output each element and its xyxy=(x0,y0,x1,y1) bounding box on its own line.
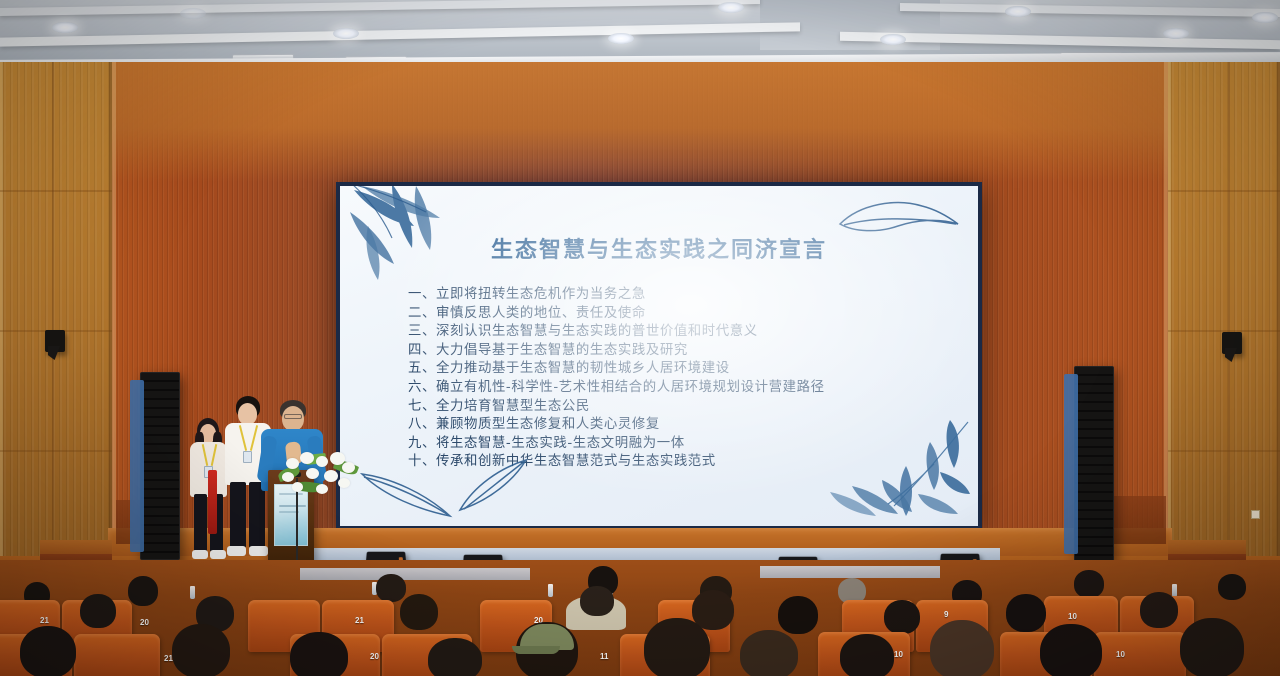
seat-number: 10 xyxy=(894,650,903,659)
audience-head xyxy=(580,586,614,616)
seat-number: 9 xyxy=(944,610,948,619)
downlight xyxy=(880,34,906,45)
downlight xyxy=(1252,12,1278,23)
audience-head xyxy=(1040,624,1102,676)
flower xyxy=(316,456,328,467)
audience-seating: 21 20 21 20 19 9 10 22 21 20 18 11 10 10 xyxy=(0,560,1280,676)
water-bottle xyxy=(548,584,553,597)
water-bottle xyxy=(190,586,195,599)
seat-number: 11 xyxy=(600,652,608,661)
downlight xyxy=(180,8,206,19)
list-item: 九、将生态智慧-生态实践-生态文明融为一体 xyxy=(408,435,952,454)
slide-title: 生态智慧与生态实践之同济宣言 xyxy=(340,232,978,264)
seat-number: 20 xyxy=(140,618,149,627)
audience-head xyxy=(778,596,818,634)
line-array-speaker-right xyxy=(1074,366,1114,562)
downlight xyxy=(608,33,634,44)
audience-head xyxy=(1006,594,1046,632)
banner-text-line xyxy=(279,505,306,507)
list-item: 十、传承和创新中华生态智慧范式与生态实践范式 xyxy=(408,453,952,472)
flower xyxy=(324,470,338,482)
flower xyxy=(292,482,303,492)
projection-screen-frame: 生态智慧与生态实践之同济宣言 一、立即将扭转生态危机作为当务之急 二、审慎反思人… xyxy=(336,182,982,530)
seat[interactable] xyxy=(1094,632,1186,676)
list-item: 二、审慎反思人类的地位、责任及使命 xyxy=(408,305,952,324)
ceiling-beam xyxy=(900,3,1280,17)
line-array-speaker-left xyxy=(140,372,180,560)
audience-head xyxy=(644,618,710,676)
downlight xyxy=(1005,6,1031,17)
red-banner-prop xyxy=(208,470,217,534)
seat-number: 10 xyxy=(1116,650,1125,659)
audience-head xyxy=(376,574,406,602)
audience-head xyxy=(128,576,158,606)
wall-seam xyxy=(1168,190,1280,192)
list-item: 七、全力培育智慧型生态公民 xyxy=(408,398,952,417)
audience-head xyxy=(428,638,482,676)
wall-seam xyxy=(1168,450,1280,452)
shoe xyxy=(192,550,208,559)
wall-panel-left xyxy=(0,62,112,572)
downlight xyxy=(333,28,359,39)
audience-head xyxy=(20,626,76,676)
flower-arrangement xyxy=(276,448,360,500)
wall-panel-right xyxy=(1168,62,1280,572)
wall-seam xyxy=(0,190,112,192)
list-item: 八、兼顾物质型生态修复和人类心灵修复 xyxy=(408,416,952,435)
audience-head xyxy=(400,594,438,630)
seat-number: 21 xyxy=(355,616,364,625)
wall-seam xyxy=(52,62,54,572)
list-item: 六、确立有机性-科学性-艺术性相结合的人居环境规划设计营建路径 xyxy=(408,379,952,398)
flower xyxy=(286,458,299,469)
seat[interactable] xyxy=(74,634,160,676)
row-table xyxy=(300,568,530,580)
flower xyxy=(342,462,355,473)
audience-head xyxy=(930,620,994,676)
audience-head xyxy=(740,630,798,676)
eyeglasses-icon xyxy=(284,414,302,419)
head xyxy=(238,403,257,425)
wall-seam xyxy=(1228,62,1230,572)
wall-outlet xyxy=(1251,510,1260,519)
audience-head xyxy=(884,600,920,634)
list-item: 四、大力倡导基于生态智慧的生态实践及研究 xyxy=(408,342,952,361)
wall-seam xyxy=(0,450,112,452)
speaker-mount-bracket xyxy=(130,380,144,552)
seat-number: 20 xyxy=(370,652,379,661)
audience-head xyxy=(1140,592,1178,628)
flower xyxy=(282,472,294,482)
list-item: 三、深刻认识生态智慧与生态实践的普世价值和时代意义 xyxy=(408,323,952,342)
wall-camera-icon xyxy=(45,330,65,352)
ceiling-beam xyxy=(0,0,760,16)
auditorium-scene: 生态智慧与生态实践之同济宣言 一、立即将扭转生态危机作为当务之急 二、审慎反思人… xyxy=(0,0,1280,676)
wall-center-upper-glow xyxy=(112,62,1168,182)
shoe xyxy=(227,546,246,556)
slide-declaration-list: 一、立即将扭转生态危机作为当务之急 二、审慎反思人类的地位、责任及使命 三、深刻… xyxy=(408,286,952,472)
seat-number: 21 xyxy=(40,616,49,625)
downlight xyxy=(52,22,78,33)
downlight xyxy=(1163,28,1189,39)
downlight xyxy=(718,2,744,13)
seat-number: 10 xyxy=(1068,612,1077,621)
wall-camera-icon xyxy=(1222,332,1242,354)
audience-head xyxy=(1074,570,1104,598)
leg xyxy=(194,494,207,552)
list-item: 一、立即将扭转生态危机作为当务之急 xyxy=(408,286,952,305)
audience-head xyxy=(172,624,230,676)
row-table xyxy=(760,566,940,578)
cap-brim xyxy=(512,646,560,654)
audience-head xyxy=(80,594,116,628)
audience-head xyxy=(290,632,348,676)
projection-screen[interactable]: 生态智慧与生态实践之同济宣言 一、立即将扭转生态危机作为当务之急 二、审慎反思人… xyxy=(340,186,978,526)
audience-head xyxy=(1180,618,1244,676)
speaker-mount-bracket xyxy=(1064,374,1078,554)
wall-trim xyxy=(112,62,116,572)
flower xyxy=(316,484,328,494)
leg xyxy=(230,482,246,548)
audience-head xyxy=(1218,574,1246,600)
audience-head xyxy=(840,634,894,676)
flower xyxy=(338,478,350,488)
list-item: 五、全力推动基于生态智慧的韧性城乡人居环境建设 xyxy=(408,360,952,379)
flower xyxy=(306,468,319,479)
flower xyxy=(300,452,314,464)
name-badge xyxy=(243,451,252,463)
ceiling-beam xyxy=(0,22,800,46)
